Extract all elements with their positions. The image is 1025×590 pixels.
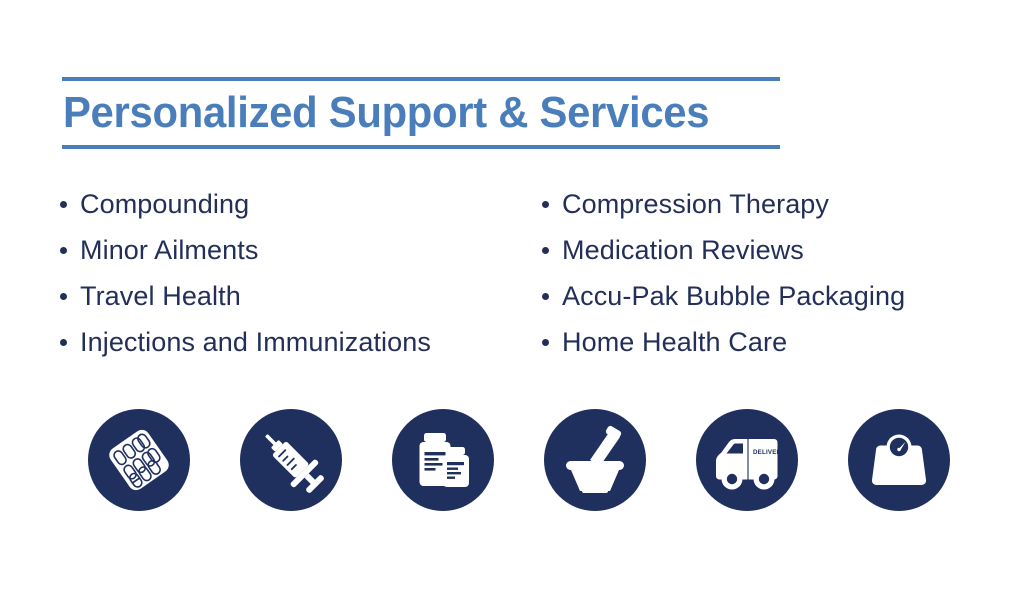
list-item: Medication Reviews <box>540 227 905 273</box>
list-item: Minor Ailments <box>58 227 431 273</box>
list-item: Compression Therapy <box>540 181 905 227</box>
services-lists: Compounding Minor Ailments Travel Health… <box>0 181 1025 361</box>
services-left-column: Compounding Minor Ailments Travel Health… <box>58 181 431 365</box>
bullet-icon <box>542 201 549 208</box>
heading-block: Personalized Support & Services <box>62 77 780 149</box>
van-delivery-text: DELIVERY <box>753 449 786 456</box>
icon-circle-blister-pack <box>88 409 190 511</box>
service-label: Compression Therapy <box>562 189 829 219</box>
service-label: Injections and Immunizations <box>80 327 431 357</box>
mortar-and-pestle-icon <box>544 409 646 511</box>
list-item: Travel Health <box>58 273 431 319</box>
syringe-icon <box>240 409 342 511</box>
list-item: Home Health Care <box>540 319 905 365</box>
icon-circle-pill-bottles <box>392 409 494 511</box>
icon-circle-mortar-pestle <box>544 409 646 511</box>
bullet-icon <box>542 293 549 300</box>
bullet-icon <box>60 201 67 208</box>
bullet-icon <box>542 247 549 254</box>
list-item: Accu-Pak Bubble Packaging <box>540 273 905 319</box>
delivery-van-icon: DELIVERY <box>696 409 798 511</box>
list-item: Injections and Immunizations <box>58 319 431 365</box>
service-label: Medication Reviews <box>562 235 804 265</box>
service-label: Compounding <box>80 189 249 219</box>
slide-canvas: Personalized Support & Services Compound… <box>0 0 1025 590</box>
services-right-list: Compression Therapy Medication Reviews A… <box>540 181 905 365</box>
bullet-icon <box>60 247 67 254</box>
bullet-icon <box>542 339 549 346</box>
bullet-icon <box>60 339 67 346</box>
page-title: Personalized Support & Services <box>62 81 744 145</box>
services-left-list: Compounding Minor Ailments Travel Health… <box>58 181 431 365</box>
pill-bottles-icon <box>392 409 494 511</box>
icon-circle-weight-scale <box>848 409 950 511</box>
blister-pack-icon <box>88 409 190 511</box>
services-right-column: Compression Therapy Medication Reviews A… <box>540 181 905 365</box>
bullet-icon <box>60 293 67 300</box>
title-rule-bottom <box>62 145 780 149</box>
list-item: Compounding <box>58 181 431 227</box>
icon-circle-delivery-van: DELIVERY <box>696 409 798 511</box>
service-label: Accu-Pak Bubble Packaging <box>562 281 905 311</box>
weight-scale-icon <box>848 409 950 511</box>
service-icon-row: DELIVERY <box>88 409 960 511</box>
service-label: Minor Ailments <box>80 235 258 265</box>
service-label: Travel Health <box>80 281 241 311</box>
icon-circle-syringe <box>240 409 342 511</box>
service-label: Home Health Care <box>562 327 787 357</box>
